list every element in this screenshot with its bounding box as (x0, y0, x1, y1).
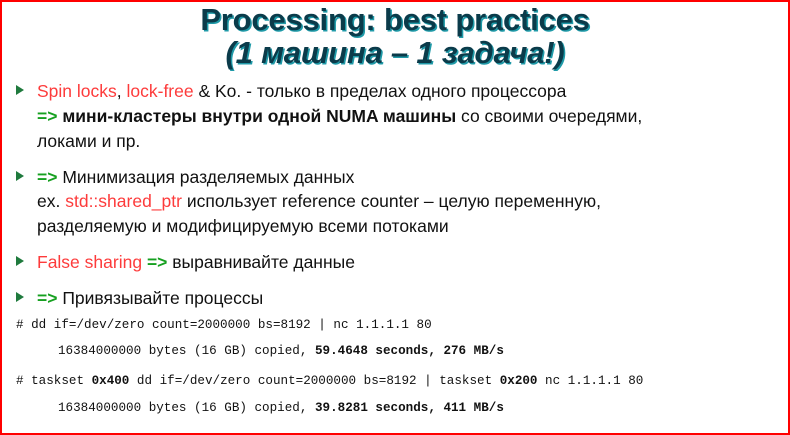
bullet-text-run: => (147, 252, 167, 272)
bullet-text-run: lock-free (127, 81, 194, 101)
terminal-text-run: # dd if=/dev/zero count=2000000 bs=8192 … (16, 318, 432, 332)
bullet-text-run: , (117, 81, 127, 101)
terminal-text-run: 16384000000 bytes (16 GB) copied, (58, 344, 315, 358)
slide-title-line-2: (1 машина – 1 задача!) (2, 37, 788, 68)
bullet-text-run: std::shared_ptr (65, 191, 182, 211)
terminal-text-run: 39.8281 seconds, 411 MB/s (315, 401, 504, 415)
bullet-line: локами и пр. (37, 129, 788, 154)
terminal-text-run: 16384000000 bytes (16 GB) copied, (58, 401, 315, 415)
bullet-item: => Минимизация разделяемых данныхex. std… (14, 165, 788, 240)
terminal-command-line: # taskset 0x400 dd if=/dev/zero count=20… (16, 374, 788, 390)
terminal-text-run: 0x200 (500, 374, 538, 388)
bullet-text-run: & Ko. - только в пределах одного процесс… (194, 81, 567, 101)
bullet-text-run: использует reference counter – целую пер… (182, 191, 601, 211)
bullet-text-run: => (37, 167, 57, 187)
bullet-text-run: ex. (37, 191, 65, 211)
bullet-line: => мини-кластеры внутри одной NUMA машин… (37, 104, 788, 129)
terminal-text-run: dd if=/dev/zero count=2000000 bs=8192 | … (129, 374, 499, 388)
bullet-text-run: выравнивайте данные (167, 252, 355, 272)
terminal-command-line: # dd if=/dev/zero count=2000000 bs=8192 … (16, 318, 788, 334)
bullet-item: => Привязывайте процессы (14, 286, 788, 311)
bullet-item: Spin locks, lock-free & Ko. - только в п… (14, 79, 788, 154)
bullet-line: ex. std::shared_ptr использует reference… (37, 189, 788, 214)
bullet-text-run: => (37, 106, 57, 126)
slide-canvas: Processing: best practices (1 машина – 1… (0, 0, 790, 435)
terminal-text-run: 59.4648 seconds, 276 MB/s (315, 344, 504, 358)
slide-title-line-1: Processing: best practices (2, 4, 788, 35)
triangle-right-icon (16, 171, 24, 181)
bullet-line: Spin locks, lock-free & Ko. - только в п… (37, 79, 788, 104)
bullet-text-run: разделяемую и модифицируемую всеми поток… (37, 216, 449, 236)
bullet-item: False sharing => выравнивайте данные (14, 250, 788, 275)
terminal-output-line: 16384000000 bytes (16 GB) copied, 59.464… (58, 344, 788, 360)
bullet-text-run: локами и пр. (37, 131, 140, 151)
triangle-right-icon (16, 85, 24, 95)
bullet-line: => Привязывайте процессы (37, 286, 788, 311)
terminal-text-run: 0x400 (92, 374, 130, 388)
bullet-text-run: Привязывайте процессы (57, 288, 263, 308)
bullet-text-run: False sharing (37, 252, 142, 272)
terminal-text-run: # taskset (16, 374, 92, 388)
bullet-text-run: Spin locks (37, 81, 117, 101)
bullet-text-run: Минимизация разделяемых данных (57, 167, 354, 187)
triangle-right-icon (16, 256, 24, 266)
terminal-text-run: nc 1.1.1.1 80 (538, 374, 644, 388)
bullet-text-run: со своими очередями, (456, 106, 642, 126)
bullet-line: False sharing => выравнивайте данные (37, 250, 788, 275)
terminal-output-block: # dd if=/dev/zero count=2000000 bs=8192 … (2, 318, 788, 417)
terminal-output-line: 16384000000 bytes (16 GB) copied, 39.828… (58, 401, 788, 417)
triangle-right-icon (16, 292, 24, 302)
slide-title: Processing: best practices (1 машина – 1… (2, 2, 788, 68)
bullet-line: => Минимизация разделяемых данных (37, 165, 788, 190)
bullet-text-run: мини-кластеры внутри одной NUMA машины (62, 106, 456, 126)
bullet-text-run: => (37, 288, 57, 308)
bullet-list: Spin locks, lock-free & Ko. - только в п… (2, 79, 788, 311)
bullet-line: разделяемую и модифицируемую всеми поток… (37, 214, 788, 239)
